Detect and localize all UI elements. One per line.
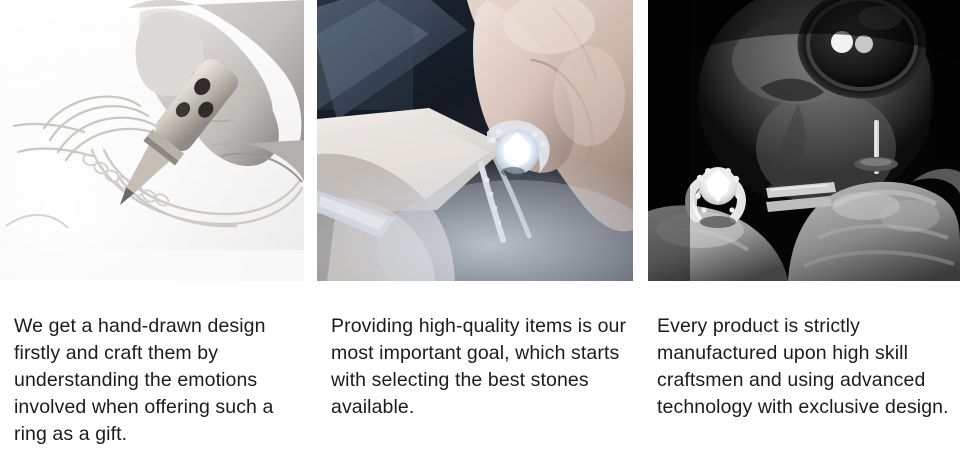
jeweler-craftsman-photo [648, 0, 960, 281]
feature-text-craftsmanship: Every product is strictly manufactured u… [648, 301, 960, 421]
feature-column-craftsmanship: Every product is strictly manufactured u… [648, 0, 960, 440]
feature-column-stone-selection: Providing high-quality items is our most… [317, 0, 633, 440]
feature-text-stone-selection: Providing high-quality items is our most… [317, 301, 633, 421]
feature-columns: We get a hand-drawn design firstly and c… [0, 0, 960, 467]
feature-text-design: We get a hand-drawn design firstly and c… [0, 301, 304, 448]
hand-drawn-ring-design-photo [0, 0, 304, 281]
feature-section: We get a hand-drawn design firstly and c… [0, 0, 960, 470]
stone-selection-photo [317, 0, 633, 281]
feature-column-design: We get a hand-drawn design firstly and c… [0, 0, 304, 467]
